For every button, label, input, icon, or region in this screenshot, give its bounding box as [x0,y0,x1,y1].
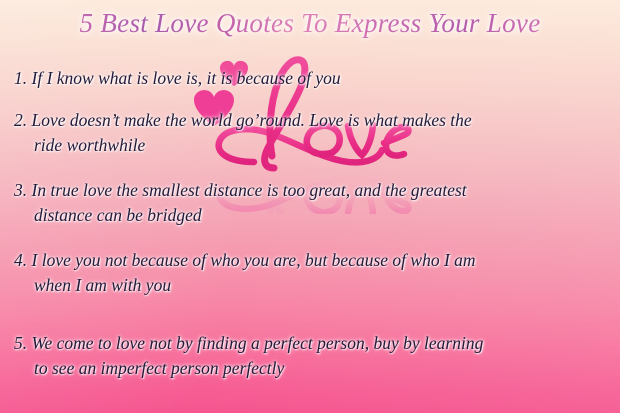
list-item-quote-1: 1. If I know what is love is, it is beca… [14,66,610,91]
love-quotes-poster: 5 Best Love Quotes To Express Your Love … [0,0,620,413]
quote-4-line-2: when I am with you [14,273,610,298]
list-item-quote-2: 2. Love doesn’t make the world go’round.… [14,108,610,158]
quote-4-line-1: 4. I love you not because of who you are… [14,248,610,273]
quote-3-line-1: 3. In true love the smallest distance is… [14,178,610,203]
list-item-quote-3: 3. In true love the smallest distance is… [14,178,610,228]
quote-2-line-2: ride worthwhile [14,133,610,158]
quote-3-line-2: distance can be bridged [14,203,610,228]
list-item-quote-4: 4. I love you not because of who you are… [14,248,610,298]
quote-5-line-1: 5. We come to love not by finding a perf… [14,331,610,356]
quote-5-line-2: to see an imperfect person perfectly [14,356,610,381]
quote-1-line-1: 1. If I know what is love is, it is beca… [14,66,610,91]
list-item-quote-5: 5. We come to love not by finding a perf… [14,331,610,381]
quote-list: 1. If I know what is love is, it is beca… [0,56,620,413]
page-title: 5 Best Love Quotes To Express Your Love [0,8,620,39]
quote-2-line-1: 2. Love doesn’t make the world go’round.… [14,108,610,133]
